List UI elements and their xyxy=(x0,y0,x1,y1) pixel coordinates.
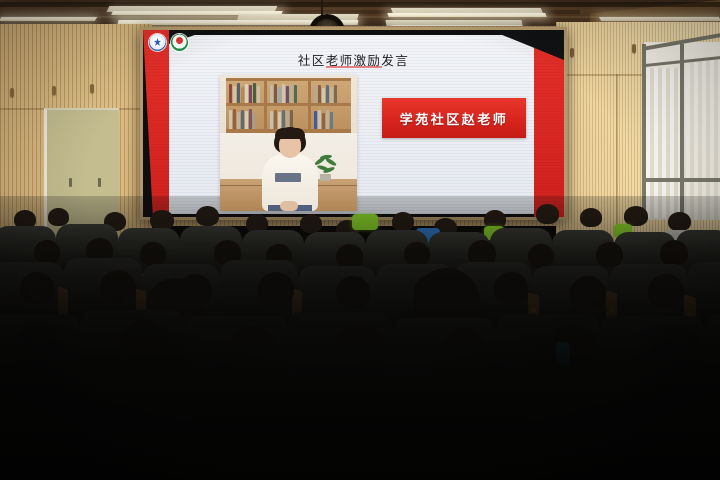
lecture-hall-photo: 社区老师激励发言 xyxy=(0,0,720,480)
shelf-board xyxy=(226,103,351,106)
fluorescent-strip-light xyxy=(0,17,97,21)
presentation-slide: 社区老师激励发言 xyxy=(143,30,564,217)
fluorescent-strip-light xyxy=(387,13,546,17)
window-mullion xyxy=(642,44,646,220)
community-emblem-green-icon xyxy=(171,34,188,51)
book-row xyxy=(229,109,262,129)
window-bank xyxy=(636,20,720,220)
door-handle[interactable] xyxy=(98,178,101,187)
speaker-video-still xyxy=(220,75,357,211)
speaker-hands xyxy=(280,201,298,211)
wall-hook xyxy=(10,88,14,97)
seated-audience xyxy=(0,196,720,480)
shelf-divider xyxy=(264,78,267,130)
speaker-figure xyxy=(260,127,320,211)
window-mullion xyxy=(644,178,720,182)
wall-hook xyxy=(570,48,574,57)
shelf-board xyxy=(226,78,351,81)
plant-pot xyxy=(320,174,331,181)
slide-title-underline xyxy=(326,66,382,68)
wall-hook xyxy=(90,84,94,93)
audience-shadow-overlay xyxy=(0,196,720,480)
book-row xyxy=(314,85,348,103)
speaker-name-banner: 学苑社区赵老师 xyxy=(382,98,526,138)
shelf-divider xyxy=(308,78,311,130)
door-handle[interactable] xyxy=(69,178,72,187)
projection-screen[interactable]: 社区老师激励发言 xyxy=(140,27,567,220)
window-mullion xyxy=(680,44,684,220)
school-emblem-blue-icon xyxy=(149,34,166,51)
sweater-graphic xyxy=(275,173,301,182)
speaker-fringe xyxy=(275,128,305,139)
wall-hook xyxy=(52,86,56,95)
book-row xyxy=(270,84,306,103)
slide-logos xyxy=(149,34,188,51)
book-row xyxy=(229,83,262,103)
speaker-name-text: 学苑社区赵老师 xyxy=(400,109,509,128)
